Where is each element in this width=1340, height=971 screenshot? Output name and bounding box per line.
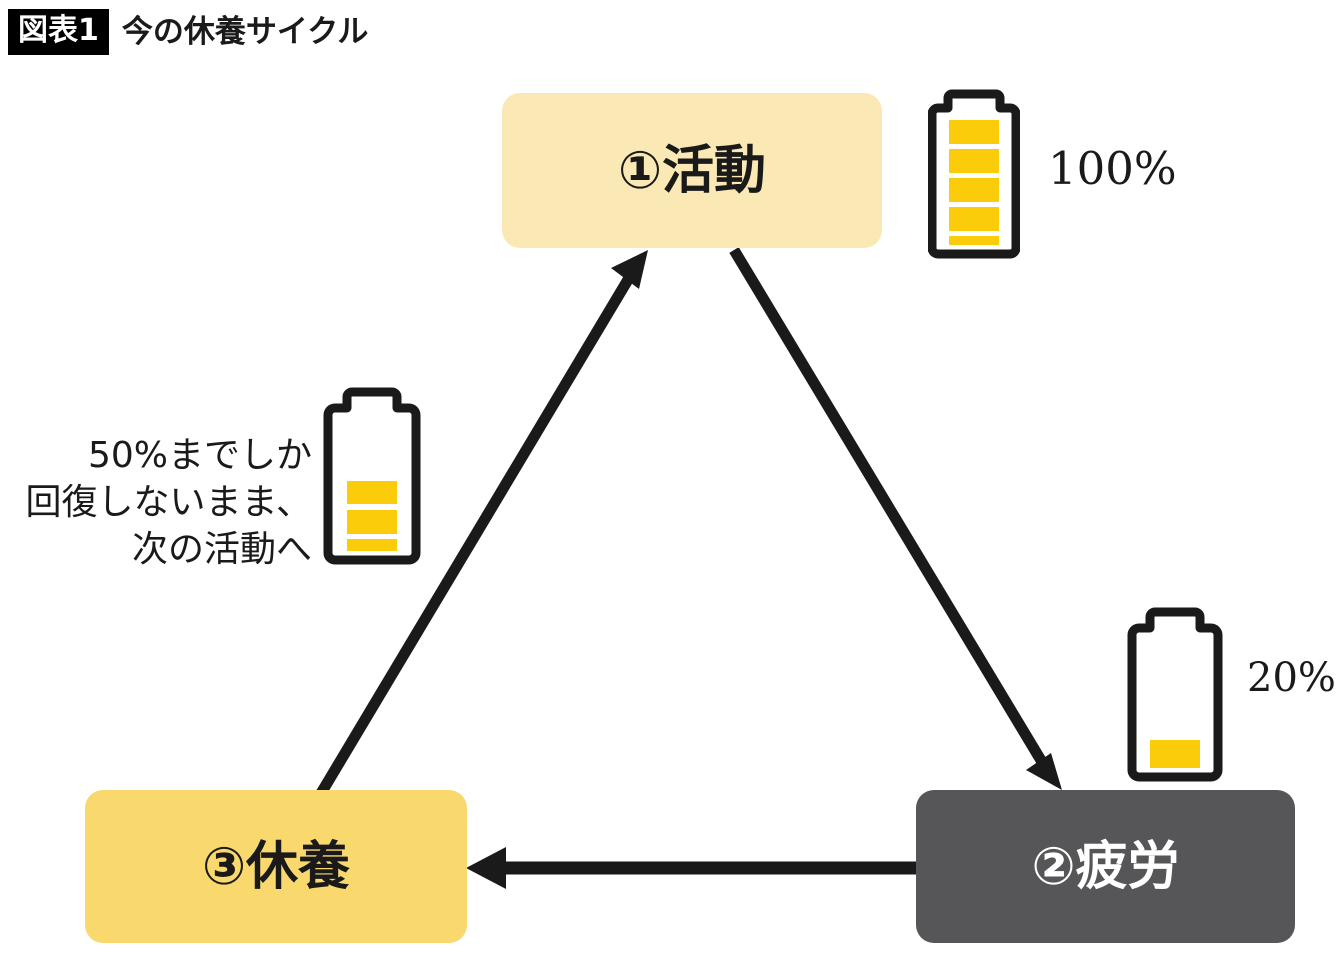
rest-note-line-2: 回復しないまま、	[0, 480, 312, 527]
rest-note-line-1: 50%までしか	[0, 433, 312, 480]
arrow-activity-to-fatigue	[734, 250, 1062, 790]
battery-icon-50	[322, 380, 422, 570]
rest-recovery-note: 50%までしか 回復しないまま、 次の活動へ	[0, 433, 312, 573]
battery-icon-20	[1126, 600, 1224, 786]
node-fatigue-label: ②疲労	[1031, 841, 1179, 893]
diagram-page: 図表1 今の休養サイクル ①活動 ②疲労 ③休養	[0, 0, 1340, 971]
arrow-fatigue-to-rest	[466, 847, 916, 889]
node-activity-label: ①活動	[618, 145, 766, 197]
rest-note-line-3: 次の活動へ	[0, 527, 312, 574]
node-rest-label: ③休養	[202, 841, 350, 893]
battery-icon-100	[928, 82, 1020, 264]
battery-100-percent-label: 100%	[1048, 146, 1177, 191]
node-rest[interactable]: ③休養	[85, 790, 467, 943]
node-fatigue[interactable]: ②疲労	[916, 790, 1295, 943]
battery-20-percent-label: 20%	[1247, 658, 1336, 698]
node-activity[interactable]: ①活動	[502, 93, 882, 248]
